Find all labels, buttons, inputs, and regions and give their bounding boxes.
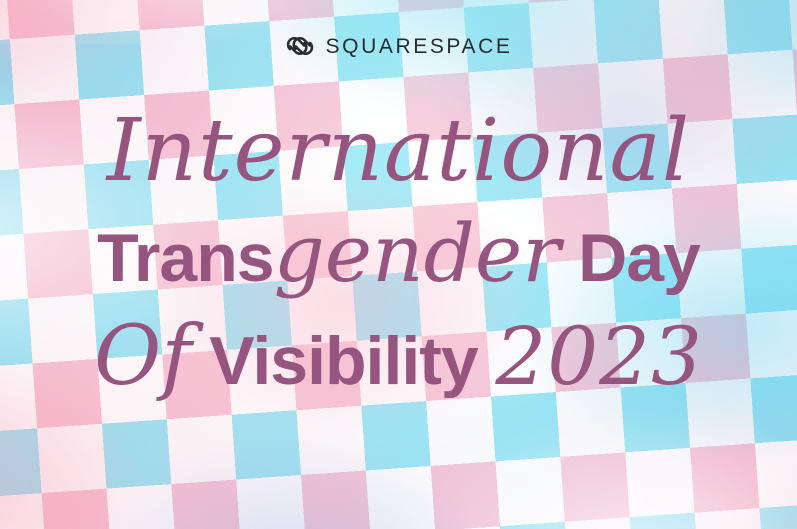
- squarespace-logo-icon: [285, 31, 315, 61]
- squarespace-logo-lockup: SQUARESPACE: [0, 31, 797, 61]
- headline-block: International TransgenderDay OfVisibilit…: [0, 108, 797, 398]
- headline-word-day: Day: [578, 220, 700, 296]
- headline-word-international: International: [107, 101, 691, 201]
- headline-word-visibility: Visibility: [209, 323, 477, 399]
- headline-line-1: International: [26, 108, 771, 200]
- headline-word-of: Of: [94, 309, 192, 404]
- headline-word-trans: Trans: [97, 220, 273, 296]
- headline-line-3: OfVisibility2023: [26, 316, 771, 398]
- headline-year-2023: 2023: [495, 310, 703, 403]
- poster-canvas: SQUARESPACE International TransgenderDay…: [0, 0, 797, 529]
- headline-word-gender: gender: [274, 207, 561, 300]
- headline-line-2: TransgenderDay: [26, 214, 771, 294]
- squarespace-wordmark: SQUARESPACE: [326, 36, 513, 57]
